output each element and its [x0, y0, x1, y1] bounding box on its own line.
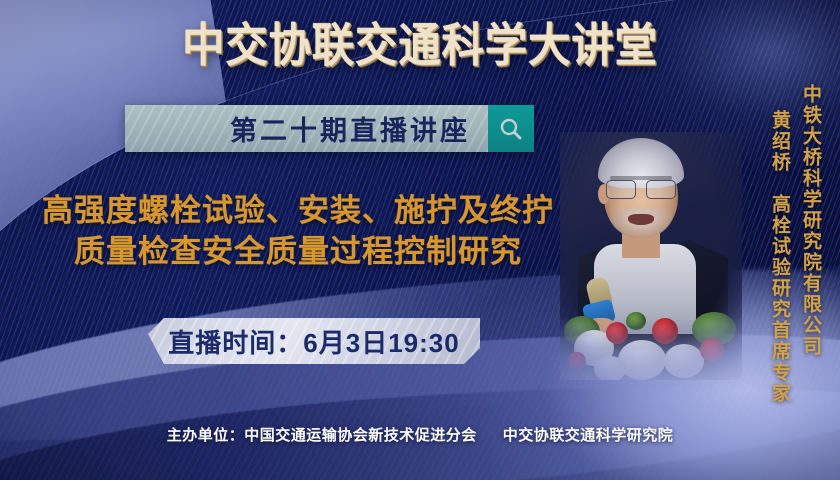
glasses-icon: [606, 180, 676, 197]
live-stream-poster: 中交协联交通科学大讲堂 第二十期直播讲座 高强度螺栓试验、安装、施拧及终拧 质量…: [0, 0, 840, 480]
footer-org-2: 中交协联交通科学研究院: [503, 427, 674, 444]
speaker-mouth: [628, 214, 654, 225]
session-label: 第二十期直播讲座: [125, 105, 488, 152]
session-bar: 第二十期直播讲座: [125, 105, 534, 152]
speaker-organization: 中铁大桥科学研究院有限公司: [797, 84, 824, 357]
speaker-photo-fade: [560, 316, 742, 380]
lecture-title: 高强度螺栓试验、安装、施拧及终拧 质量检查安全质量过程控制研究: [8, 190, 588, 272]
lecture-title-line-1: 高强度螺栓试验、安装、施拧及终拧: [8, 190, 588, 231]
footer-prefix: 主办单位：: [167, 427, 245, 444]
footer-organizers: 主办单位：中国交通运输协会新技术促进分会中交协联交通科学研究院: [0, 424, 840, 445]
live-time-badge: 直播时间：6月3日19:30: [148, 318, 480, 364]
page-title: 中交协联交通科学大讲堂: [34, 22, 807, 68]
footer-org-1: 中国交通运输协会新技术促进分会: [244, 427, 477, 444]
search-icon[interactable]: [488, 105, 534, 152]
lecture-title-line-2: 质量检查安全质量过程控制研究: [8, 231, 588, 272]
speaker-name-role: 黄绍桥 高栓试验研究首席专家: [766, 110, 793, 404]
